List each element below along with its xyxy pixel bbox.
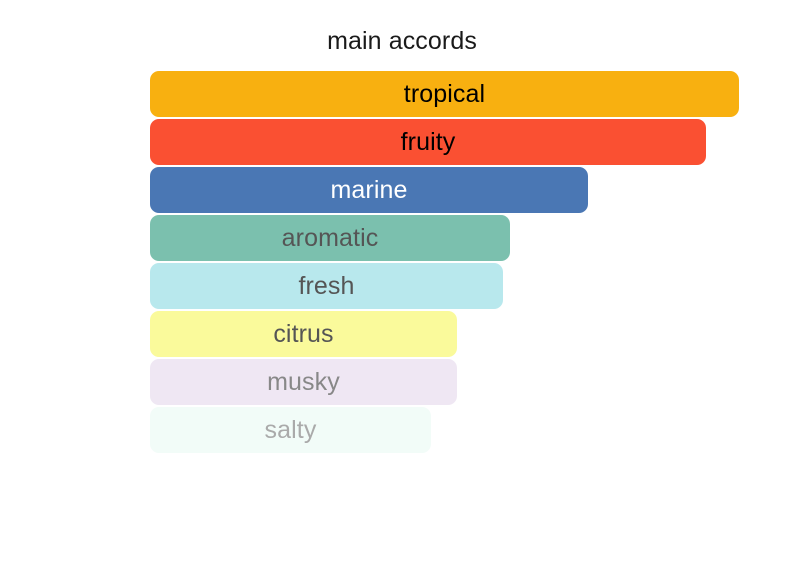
bar-musky bbox=[150, 359, 457, 405]
bar-citrus bbox=[150, 311, 457, 357]
bar-fruity bbox=[150, 119, 706, 165]
bar-row: salty bbox=[150, 407, 804, 453]
main-accords-chart: main accords tropicalfruitymarinearomati… bbox=[0, 0, 804, 576]
bar-row: aromatic bbox=[150, 215, 804, 261]
bar-plot-area: tropicalfruitymarinearomaticfreshcitrusm… bbox=[150, 71, 804, 461]
bar-row: marine bbox=[150, 167, 804, 213]
bar-tropical bbox=[150, 71, 739, 117]
bar-row: citrus bbox=[150, 311, 804, 357]
chart-title: main accords bbox=[0, 26, 804, 56]
bar-row: musky bbox=[150, 359, 804, 405]
bar-fresh bbox=[150, 263, 503, 309]
bar-salty bbox=[150, 407, 431, 453]
bar-row: fresh bbox=[150, 263, 804, 309]
bar-row: tropical bbox=[150, 71, 804, 117]
bar-aromatic bbox=[150, 215, 510, 261]
bar-marine bbox=[150, 167, 588, 213]
bar-row: fruity bbox=[150, 119, 804, 165]
